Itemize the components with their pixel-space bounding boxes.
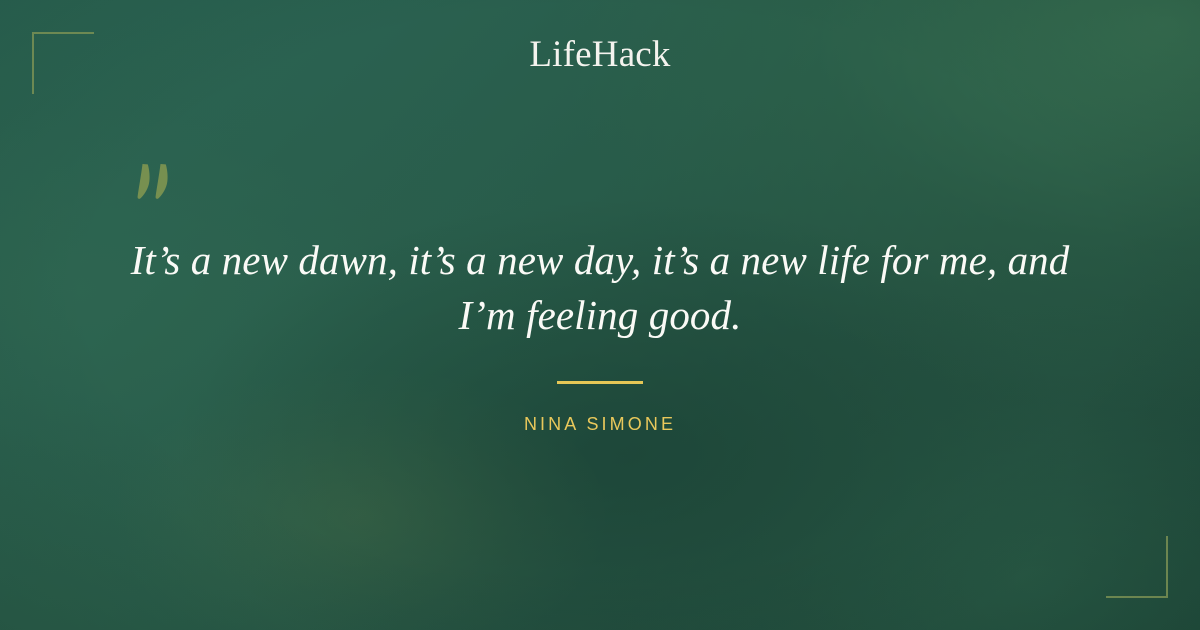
- quote-block: It’s a new dawn, it’s a new day, it’s a …: [0, 233, 1200, 342]
- quote-text: It’s a new dawn, it’s a new day, it’s a …: [112, 233, 1088, 342]
- brand-logo: LifeHack: [0, 36, 1200, 73]
- double-quote-icon: [124, 160, 186, 222]
- author-divider: [557, 381, 643, 384]
- quote-card: LifeHack It’s a new dawn, it’s a new day…: [0, 0, 1200, 630]
- corner-bracket-bottom-right-icon: [1106, 536, 1168, 598]
- quote-author: NINA SIMONE: [0, 414, 1200, 435]
